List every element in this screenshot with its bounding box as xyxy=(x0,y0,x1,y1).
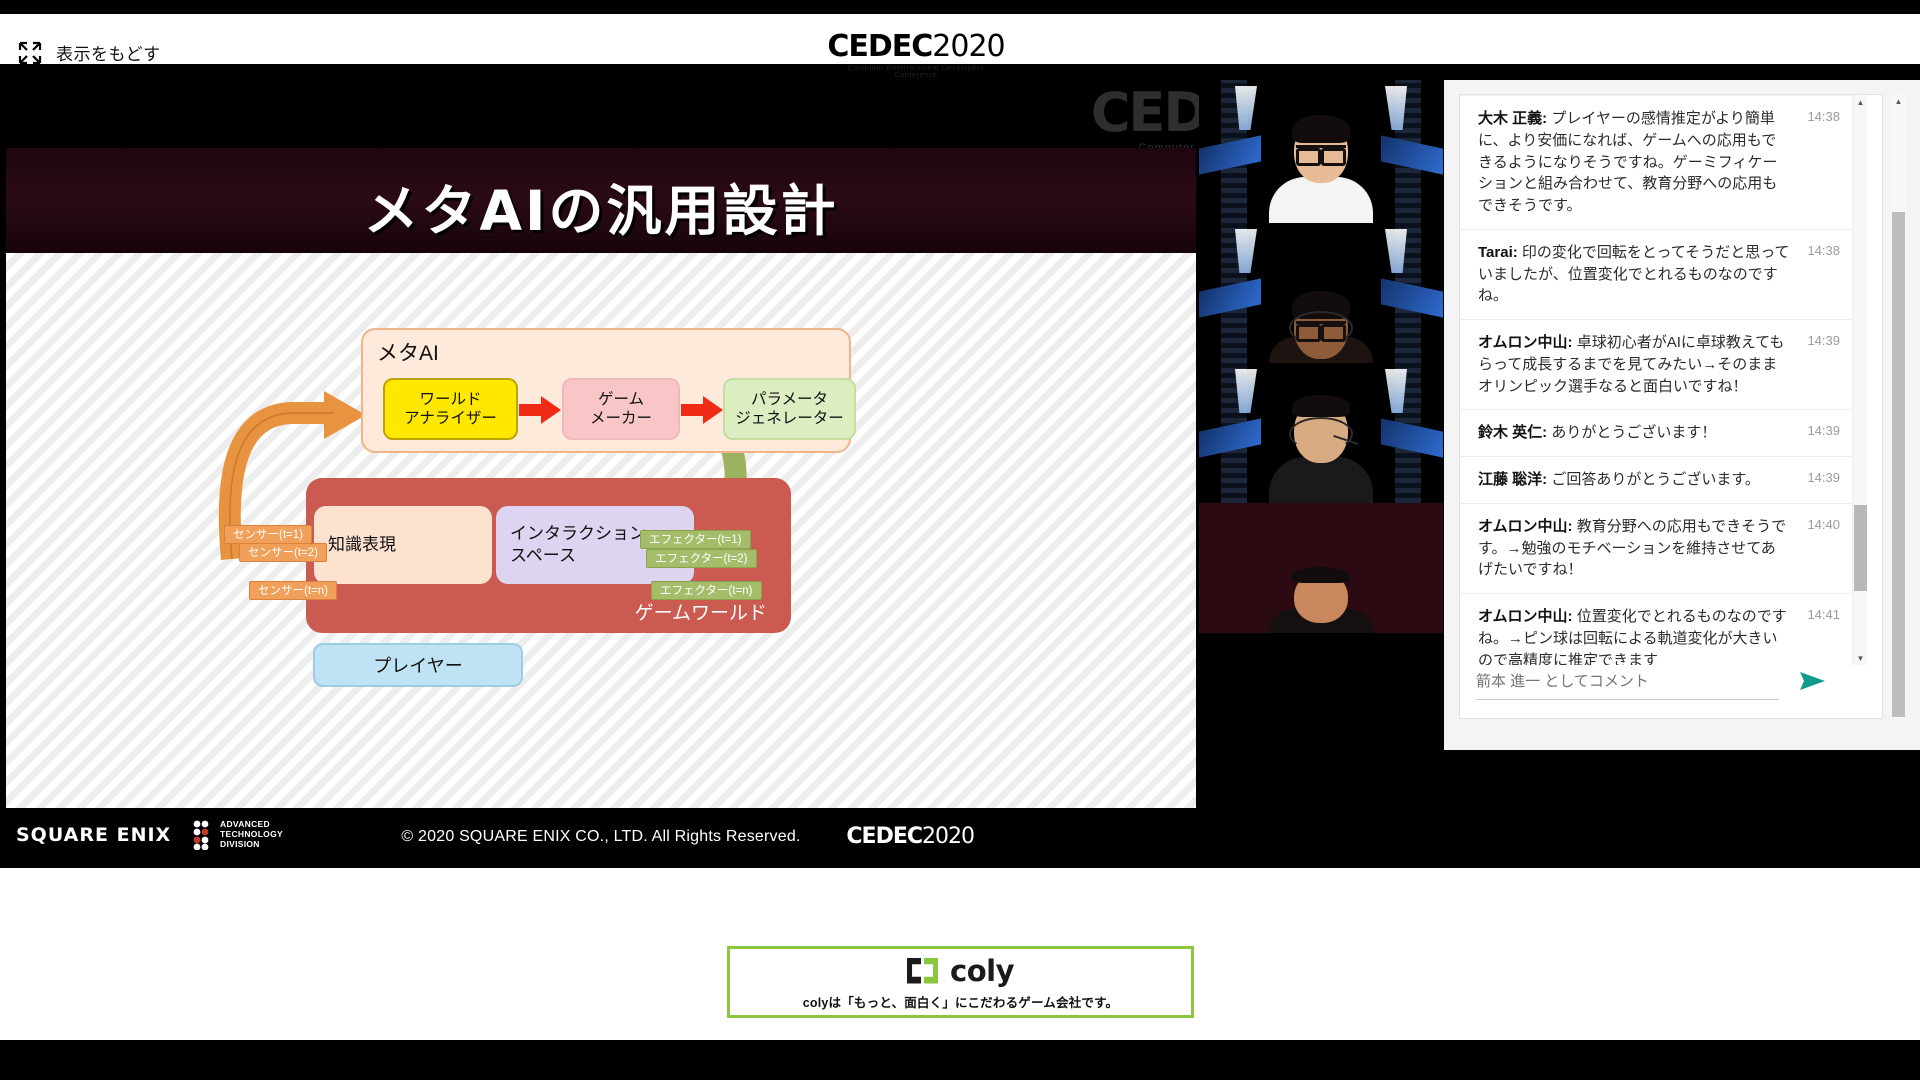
arrow-maker-to-generator xyxy=(681,396,723,424)
chat-message: オムロン中山: 教育分野への応用もできそうです。→勉強のモチベーションを維持させ… xyxy=(1460,504,1852,594)
meta-ai-label: メタAI xyxy=(377,337,439,367)
scroll-down-arrow-icon[interactable]: ▼ xyxy=(1853,651,1868,665)
world-analyzer-box: ワールド アナライザー xyxy=(383,378,518,440)
chat-panel-scroll-thumb[interactable] xyxy=(1892,212,1905,717)
chat-message-author: 江藤 聡洋: xyxy=(1478,471,1547,488)
chat-message-time: 14:39 xyxy=(1807,333,1840,348)
game-maker-line2: メーカー xyxy=(590,409,652,428)
chat-message-body: オムロン中山: 教育分野への応用もできそうです。→勉強のモチベーションを維持させ… xyxy=(1478,516,1790,581)
chat-panel: 大木 正義: プレイヤーの感情推定がより簡単に、より安価になれば、ゲームへの応用… xyxy=(1444,80,1920,750)
participant-tile-2[interactable] xyxy=(1199,223,1443,363)
chat-message-text: ご回答ありがとうございます。 xyxy=(1547,471,1760,488)
chat-message: 鈴木 英仁: ありがとうございます！ 14:39 xyxy=(1460,410,1852,457)
chat-message-time: 14:41 xyxy=(1807,607,1840,622)
chat-message-author: オムロン中山: xyxy=(1478,608,1573,625)
cedec-logo-subtitle: Computer Entertainment Developers Confer… xyxy=(826,64,1006,78)
participant-hair xyxy=(1292,567,1350,583)
footer-cedec-word: CEDEC xyxy=(846,824,922,849)
effector-tag-tn: エフェクター(t=n) xyxy=(651,581,762,600)
slide-title-band: メタAIの汎用設計 xyxy=(6,148,1196,253)
chat-message-time: 14:38 xyxy=(1807,109,1840,124)
participant-figure xyxy=(1269,563,1373,633)
chat-message: Tarai: 印の変化で回転をとってそうだと思っていましたが、位置変化でとれるも… xyxy=(1460,230,1852,320)
participant-glasses xyxy=(1296,145,1346,157)
slide-frame: メタAIの汎用設計 xyxy=(6,148,1196,866)
parameter-generator-line1: パラメータ xyxy=(751,390,828,409)
chat-message-body: 江藤 聡洋: ご回答ありがとうございます。 xyxy=(1478,469,1790,491)
chat-list-scroll-thumb[interactable] xyxy=(1854,505,1867,591)
sensor-tag-t1: センサー(t=1) xyxy=(224,525,312,544)
chat-message-text: ありがとうございます！ xyxy=(1547,424,1716,441)
chat-message-body: オムロン中山: 卓球初心者がAIに卓球教えてもらって成長するまでを見てみたい→そ… xyxy=(1478,332,1790,397)
game-maker-box: ゲーム メーカー xyxy=(562,378,680,440)
chat-panel-scrollbar[interactable]: ▲ xyxy=(1891,94,1906,719)
chat-message: オムロン中山: 卓球初心者がAIに卓球教えてもらって成長するまでを見てみたい→そ… xyxy=(1460,320,1852,410)
coly-mark-icon xyxy=(907,958,938,984)
scroll-up-arrow-icon[interactable]: ▲ xyxy=(1853,95,1868,109)
knowledge-representation-box: 知識表現 xyxy=(314,506,492,584)
comment-input[interactable] xyxy=(1476,673,1778,700)
chat-message: 大木 正義: プレイヤーの感情推定がより簡単に、より安価になれば、ゲームへの応用… xyxy=(1460,95,1852,230)
participant-headset xyxy=(1289,311,1353,345)
participant-tile-1[interactable] xyxy=(1199,80,1443,223)
participant-figure xyxy=(1269,285,1373,363)
footer-cedec-year: 2020 xyxy=(922,824,974,849)
meta-ai-container: メタAI ワールド アナライザー ゲーム メーカー xyxy=(361,328,851,453)
coly-tagline: colyは「もっと、面白く」にこだわるゲーム会社です。 xyxy=(803,992,1119,1011)
participant-body xyxy=(1269,457,1373,503)
chat-message-author: 大木 正義: xyxy=(1478,110,1547,127)
chat-message-author: オムロン中山: xyxy=(1478,518,1573,535)
chat-message-author: Tarai: xyxy=(1478,244,1518,261)
exit-fullscreen-icon xyxy=(18,41,42,65)
chat-message-author: オムロン中山: xyxy=(1478,334,1573,351)
game-maker-line1: ゲーム xyxy=(598,390,644,409)
chat-message-body: オムロン中山: 位置変化でとれるものなのですね。→ピン球は回転による軌道変化が大… xyxy=(1478,606,1790,665)
chat-list-scrollbar[interactable]: ▲ ▼ xyxy=(1852,95,1867,665)
effector-tag-t1: エフェクター(t=1) xyxy=(640,530,751,549)
effector-tag-t2: エフェクター(t=2) xyxy=(646,549,757,568)
chat-message: オムロン中山: 位置変化でとれるものなのですね。→ピン球は回転による軌道変化が大… xyxy=(1460,594,1852,665)
copyright-text: © 2020 SQUARE ENIX CO., LTD. All Rights … xyxy=(6,828,1196,846)
participant-figure xyxy=(1269,115,1373,223)
arrow-analyzer-to-maker xyxy=(519,396,561,424)
participant-figure xyxy=(1269,395,1373,503)
chat-composer xyxy=(1460,663,1852,718)
meta-ai-architecture-diagram: メタAI ワールド アナライザー ゲーム メーカー xyxy=(6,253,1196,808)
bottom-black-bar xyxy=(0,1040,1920,1080)
world-analyzer-line2: アナライザー xyxy=(404,409,497,428)
game-world-label: ゲームワールド xyxy=(635,598,767,625)
slide-content-area: メタAI ワールド アナライザー ゲーム メーカー xyxy=(6,253,1196,808)
chat-message: 江藤 聡洋: ご回答ありがとうございます。 14:39 xyxy=(1460,457,1852,504)
parameter-generator-box: パラメータ ジェネレーター xyxy=(723,378,856,440)
app-root: 表示をもどす CEDEC2020 Computer Entertainment … xyxy=(0,0,1920,1080)
participant-headset xyxy=(1289,417,1353,451)
chat-message-time: 14:39 xyxy=(1807,423,1840,438)
sensor-tag-t2: センサー(t=2) xyxy=(239,543,327,562)
chat-message-time: 14:39 xyxy=(1807,470,1840,485)
chat-message-time: 14:40 xyxy=(1807,517,1840,532)
participant-tile-3[interactable] xyxy=(1199,363,1443,503)
chat-message-list[interactable]: 大木 正義: プレイヤーの感情推定がより簡単に、より安価になれば、ゲームへの応用… xyxy=(1460,95,1852,665)
coly-logo: coly xyxy=(907,954,1014,988)
chat-message-body: Tarai: 印の変化で回転をとってそうだと思っていましたが、位置変化でとれるも… xyxy=(1478,242,1790,307)
player-box: プレイヤー xyxy=(313,643,523,687)
chat-message-text: 印の変化で回転をとってそうだと思っていましたが、位置変化でとれるものなのですね。 xyxy=(1478,244,1790,305)
footer-cedec-logo: CEDEC2020 xyxy=(846,824,974,849)
chat-card: 大木 正義: プレイヤーの感情推定がより簡単に、より安価になれば、ゲームへの応用… xyxy=(1459,94,1883,719)
cedec-header-logo: CEDEC2020 Computer Entertainment Develop… xyxy=(826,32,1006,78)
participant-body xyxy=(1269,177,1373,223)
top-bar: 表示をもどす CEDEC2020 Computer Entertainment … xyxy=(0,14,1920,64)
chat-message-body: 大木 正義: プレイヤーの感情推定がより簡単に、より安価になれば、ゲームへの応用… xyxy=(1478,108,1790,217)
cedec-logo-word: CEDEC xyxy=(827,29,932,64)
sensor-tag-tn: センサー(t=n) xyxy=(249,581,337,600)
world-analyzer-line1: ワールド xyxy=(419,390,481,409)
parameter-generator-line2: ジェネレーター xyxy=(735,409,844,428)
cedec-logo-year: 2020 xyxy=(932,29,1004,64)
slide-footer: SQUARE ENIX ADVANCED TECHNOLOGY xyxy=(6,808,1196,866)
coly-brand-name: coly xyxy=(950,954,1014,988)
sponsor-area: coly colyは「もっと、面白く」にこだわるゲーム会社です。 xyxy=(0,868,1920,1080)
panel-scroll-up-arrow-icon[interactable]: ▲ xyxy=(1891,94,1906,108)
chat-message-author: 鈴木 英仁: xyxy=(1478,424,1547,441)
participant-video-column xyxy=(1199,80,1443,750)
exit-fullscreen-label: 表示をもどす xyxy=(56,40,161,65)
knowledge-representation-label: 知識表現 xyxy=(328,534,492,556)
coly-sponsor-banner[interactable]: coly colyは「もっと、面白く」にこだわるゲーム会社です。 xyxy=(727,946,1194,1018)
participant-hair xyxy=(1292,395,1350,417)
chat-message-time: 14:38 xyxy=(1807,243,1840,258)
chat-message-body: 鈴木 英仁: ありがとうございます！ xyxy=(1478,422,1790,444)
page-title: メタAIの汎用設計 xyxy=(6,166,1196,246)
exit-fullscreen-button[interactable]: 表示をもどす xyxy=(18,40,161,65)
participant-hair xyxy=(1292,115,1350,143)
participant-tile-4[interactable] xyxy=(1199,503,1443,633)
send-icon[interactable] xyxy=(1798,669,1826,693)
